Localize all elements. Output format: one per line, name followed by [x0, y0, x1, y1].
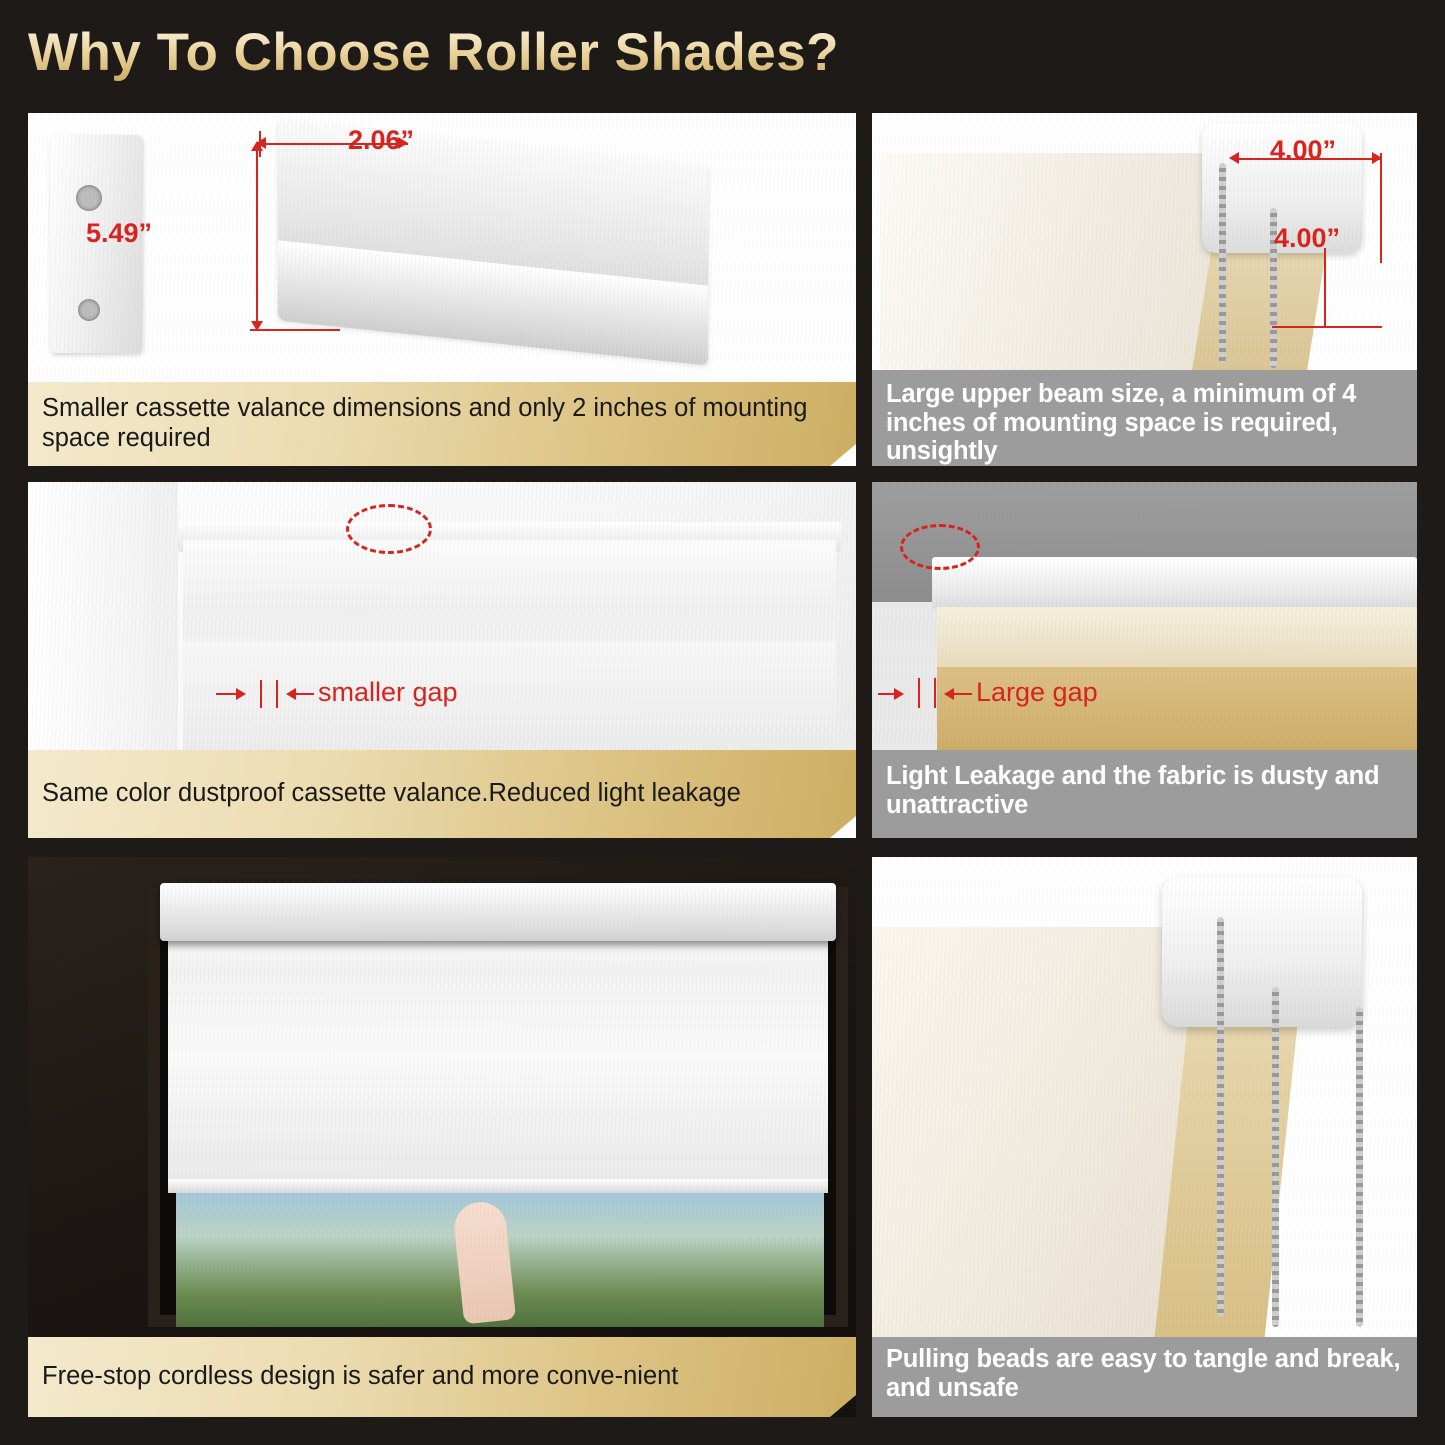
cassette-headrail — [160, 883, 836, 941]
page-title: Why To Choose Roller Shades? — [28, 22, 839, 83]
bead-chain-left — [1217, 917, 1224, 1317]
card-cassette-valance-dimensions: 2.06” 5.49” Smaller cassette valance dim… — [28, 113, 856, 466]
infographic-page: Why To Choose Roller Shades? 2.06” 5.49”… — [0, 0, 1445, 1445]
card-2-caption: Large upper beam size, a minimum of 4 in… — [872, 370, 1417, 466]
bead-chain-far-right — [1356, 1007, 1363, 1327]
bottom-rail — [168, 1179, 828, 1193]
bead-chain-right — [1272, 987, 1279, 1327]
height-dimension-label: 5.49” — [86, 218, 152, 249]
card-6-photo — [872, 857, 1417, 1337]
beam-width-arrow-left — [1229, 152, 1239, 164]
shade-fabric-front — [872, 927, 1202, 1337]
card-light-leakage: Large gap Light Leakage and the fabric i… — [872, 482, 1417, 838]
mount-hole-upper — [76, 185, 102, 211]
gap-tick-left — [918, 678, 920, 708]
card-5-photo — [28, 857, 856, 1337]
beam-width-label: 4.00” — [1270, 135, 1336, 166]
beam-depth-label: 4.00” — [1274, 223, 1340, 254]
gap-arrow-left — [944, 688, 954, 700]
card-large-upper-beam: 4.00” 4.00” Large upper beam size, a min… — [872, 113, 1417, 466]
card-1-caption: Smaller cassette valance dimensions and … — [28, 382, 856, 466]
gap-tick-left — [260, 680, 262, 708]
beam-depth-line — [1324, 248, 1326, 328]
card-cordless-design: Free-stop cordless design is safer and m… — [28, 857, 856, 1417]
mount-hole-lower — [78, 299, 100, 321]
gap-callout-label: smaller gap — [318, 677, 458, 708]
card-4-caption: Light Leakage and the fabric is dusty an… — [872, 750, 1417, 838]
card-2-photo: 4.00” 4.00” — [872, 113, 1417, 370]
wall-left — [28, 482, 178, 750]
gap-tick-right — [276, 680, 278, 708]
width-dimension-label: 2.06” — [348, 125, 414, 156]
beam-width-tick-right — [1380, 153, 1382, 263]
gap-line-left — [216, 693, 240, 695]
height-arrow-up — [251, 141, 263, 151]
card-dustproof-cassette-valance: smaller gap Same color dustproof cassett… — [28, 482, 856, 838]
card-pulling-beads: Pulling beads are easy to tangle and bre… — [872, 857, 1417, 1417]
beam-depth-tick-bottom — [1272, 326, 1382, 328]
gap-line-right — [954, 693, 972, 695]
gap-highlight-ellipse — [900, 524, 980, 570]
gap-arrow-left — [286, 688, 296, 700]
roller-tube — [932, 557, 1417, 609]
bead-chain-left — [1219, 163, 1226, 363]
height-dimension-line — [256, 143, 258, 331]
gap-tick-right — [934, 678, 936, 708]
gap-line-right — [296, 693, 314, 695]
shade-fabric-lower — [183, 642, 836, 750]
card-4-photo: Large gap — [872, 482, 1417, 750]
height-tick-bottom — [250, 329, 340, 331]
card-1-photo: 2.06” 5.49” — [28, 113, 856, 385]
card-6-caption: Pulling beads are easy to tangle and bre… — [872, 1337, 1417, 1417]
gap-callout-label: Large gap — [976, 677, 1098, 708]
gap-highlight-ellipse — [346, 504, 432, 554]
card-3-photo: smaller gap — [28, 482, 856, 750]
roller-beam — [1162, 877, 1362, 1027]
card-5-caption: Free-stop cordless design is safer and m… — [28, 1337, 856, 1417]
gap-line-left — [878, 693, 898, 695]
card-3-caption: Same color dustproof cassette valance.Re… — [28, 750, 856, 838]
